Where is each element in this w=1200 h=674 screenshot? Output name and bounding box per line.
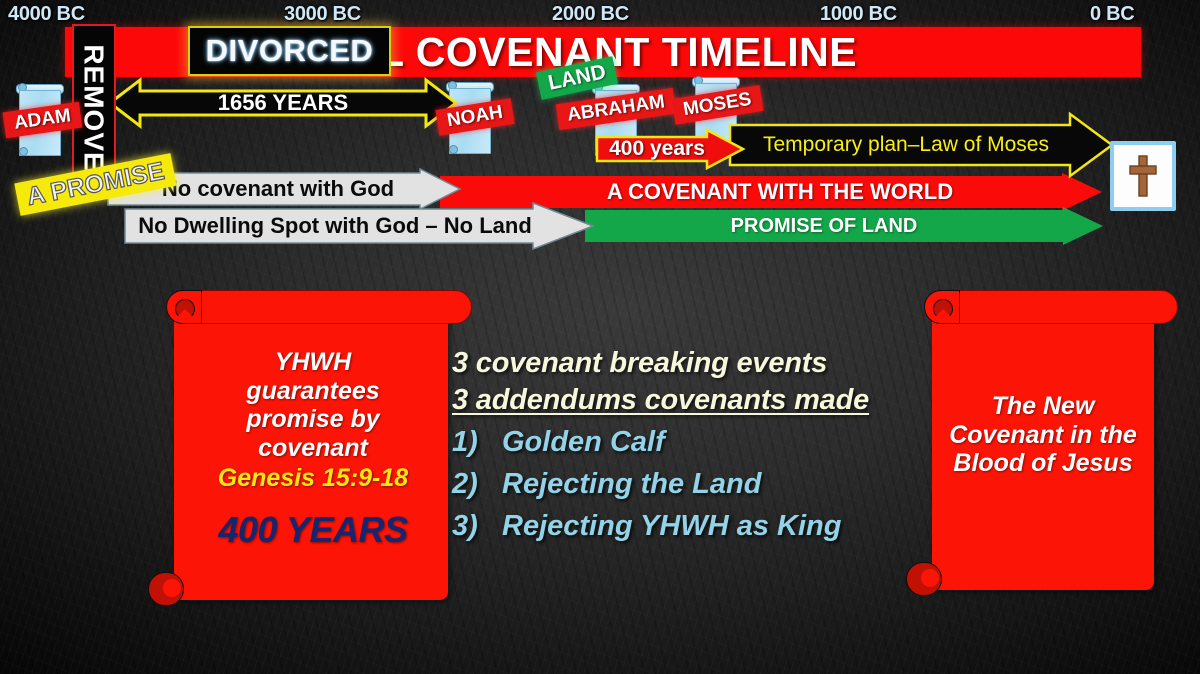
left-scroll-line-2: guarantees bbox=[188, 377, 438, 406]
list-item: 3) Rejecting YHWH as King bbox=[452, 510, 922, 543]
cross-icon bbox=[1110, 141, 1176, 211]
scroll-bottom-curl bbox=[148, 572, 184, 606]
list-item-text: Golden Calf bbox=[502, 426, 665, 459]
arrow-promise-of-land bbox=[585, 207, 1103, 245]
center-list-heading-2: 3 addendums covenants made bbox=[452, 384, 922, 417]
left-scroll-reference: Genesis 15:9-18 bbox=[188, 464, 438, 493]
arrow-1656-years bbox=[110, 76, 456, 130]
arrow-temporary-plan bbox=[730, 114, 1112, 176]
arrow-no-dwelling bbox=[125, 203, 593, 249]
scroll-top-curl bbox=[924, 290, 960, 324]
axis-label-3000bc: 3000 BC bbox=[284, 3, 361, 26]
arrow-400-years bbox=[597, 130, 743, 168]
list-item-number: 3) bbox=[452, 510, 486, 543]
scroll-top-roll bbox=[166, 290, 472, 324]
center-list-heading-1: 3 covenant breaking events bbox=[452, 347, 922, 380]
divorced-label: DIVORCED bbox=[206, 33, 374, 69]
scroll-knob-bottom bbox=[449, 145, 458, 154]
list-item: 2) Rejecting the Land bbox=[452, 468, 922, 501]
list-item-text: Rejecting the Land bbox=[502, 468, 761, 501]
left-scroll-line-4: covenant bbox=[188, 434, 438, 463]
axis-label-2000bc: 2000 BC bbox=[552, 3, 629, 26]
right-scroll: The New Covenant in the Blood of Jesus bbox=[920, 288, 1178, 596]
list-item: 1) Golden Calf bbox=[452, 426, 922, 459]
list-item-number: 1) bbox=[452, 426, 486, 459]
left-scroll-line-1: YHWH bbox=[188, 348, 438, 377]
divorced-callout: DIVORCED bbox=[188, 26, 391, 76]
left-scroll-text: YHWH guarantees promise by covenant Gene… bbox=[188, 348, 438, 550]
axis-label-1000bc: 1000 BC bbox=[820, 3, 897, 26]
right-scroll-text: The New Covenant in the Blood of Jesus bbox=[938, 392, 1148, 478]
slide-canvas: 4000 BC 3000 BC 2000 BC 1000 BC 0 BC AL … bbox=[0, 0, 1200, 674]
right-scroll-line-2: Covenant in the bbox=[938, 421, 1148, 450]
axis-label-4000bc: 4000 BC bbox=[8, 3, 85, 26]
center-list: 3 covenant breaking events 3 addendums c… bbox=[452, 347, 922, 543]
list-item-number: 2) bbox=[452, 468, 486, 501]
right-scroll-line-3: Blood of Jesus bbox=[938, 449, 1148, 478]
left-scroll-line-3: promise by bbox=[188, 405, 438, 434]
left-scroll: YHWH guarantees promise by covenant Gene… bbox=[162, 288, 472, 606]
axis-label-0bc: 0 BC bbox=[1090, 3, 1134, 26]
list-item-text: Rejecting YHWH as King bbox=[502, 510, 841, 543]
sticker-adam: ADAM bbox=[3, 102, 83, 138]
right-scroll-line-1: The New bbox=[938, 392, 1148, 421]
left-scroll-highlight: 400 YEARS bbox=[188, 509, 438, 550]
scroll-bottom-curl bbox=[906, 562, 942, 596]
cross-glyph bbox=[1128, 154, 1158, 198]
scroll-top-roll bbox=[924, 290, 1178, 324]
scroll-top-curl bbox=[166, 290, 202, 324]
scroll-knob-bottom bbox=[19, 147, 28, 156]
remove-label: REMOVE bbox=[78, 44, 110, 171]
